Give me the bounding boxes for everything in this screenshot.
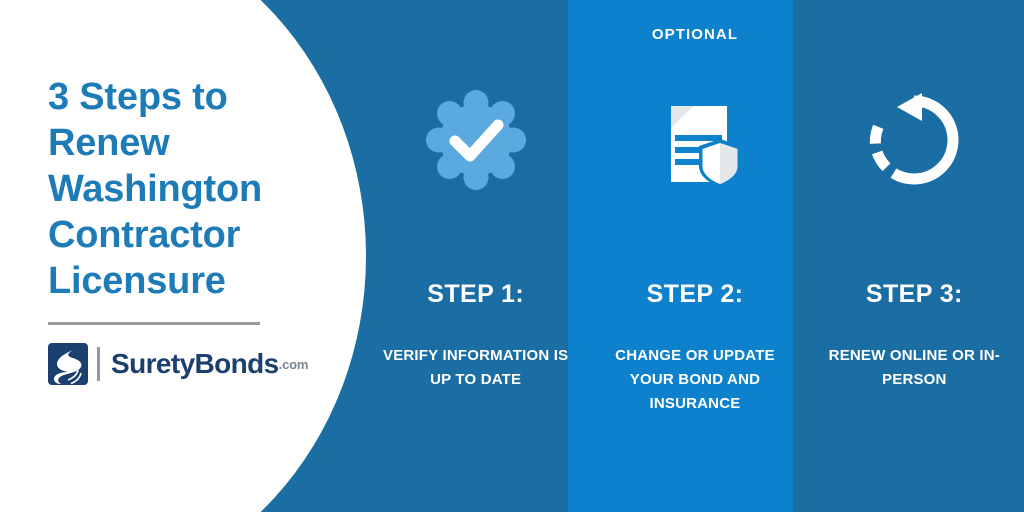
step-2-description: CHANGE OR UPDATE YOUR BOND AND INSURANCE: [601, 344, 789, 416]
step-1: STEP 1: VERIFY INFORMATION IS UP TO DATE: [366, 0, 585, 512]
title-divider: [48, 322, 260, 325]
step-3-description: RENEW ONLINE OR IN-PERSON: [820, 344, 1008, 392]
step-2: OPTIONAL STEP 2: CHANGE OR UPDATE YOUR B…: [585, 0, 804, 512]
page-title: 3 Steps to Renew Washington Contractor L…: [48, 74, 348, 304]
step-2-title: STEP 2:: [585, 280, 804, 309]
headline-line-1: 3 Steps to: [48, 74, 348, 120]
optional-badge: OPTIONAL: [585, 26, 804, 43]
logo-brand-text: SuretyBonds: [111, 350, 279, 378]
headline-line-4: Contractor: [48, 212, 348, 258]
infographic-canvas: 3 Steps to Renew Washington Contractor L…: [0, 0, 1024, 512]
renew-refresh-arrow-icon: [862, 88, 966, 192]
headline-line-2: Renew: [48, 120, 348, 166]
headline-line-3: Washington: [48, 166, 348, 212]
steps-container: STEP 1: VERIFY INFORMATION IS UP TO DATE…: [366, 0, 1024, 512]
suretybonds-swoosh-icon: [48, 343, 88, 385]
step-3: STEP 3: RENEW ONLINE OR IN-PERSON: [805, 0, 1024, 512]
step-1-title: STEP 1:: [366, 280, 585, 309]
step-1-description: VERIFY INFORMATION IS UP TO DATE: [382, 344, 570, 392]
title-block: 3 Steps to Renew Washington Contractor L…: [48, 74, 348, 385]
document-shield-icon: [643, 88, 747, 192]
suretybonds-logo[interactable]: SuretyBonds .com: [48, 343, 348, 385]
headline-line-5: Licensure: [48, 258, 348, 304]
verified-badge-check-icon: [424, 88, 528, 192]
logo-divider: [97, 347, 100, 381]
step-3-title: STEP 3:: [805, 280, 1024, 309]
logo-tld-text: .com: [279, 357, 309, 372]
